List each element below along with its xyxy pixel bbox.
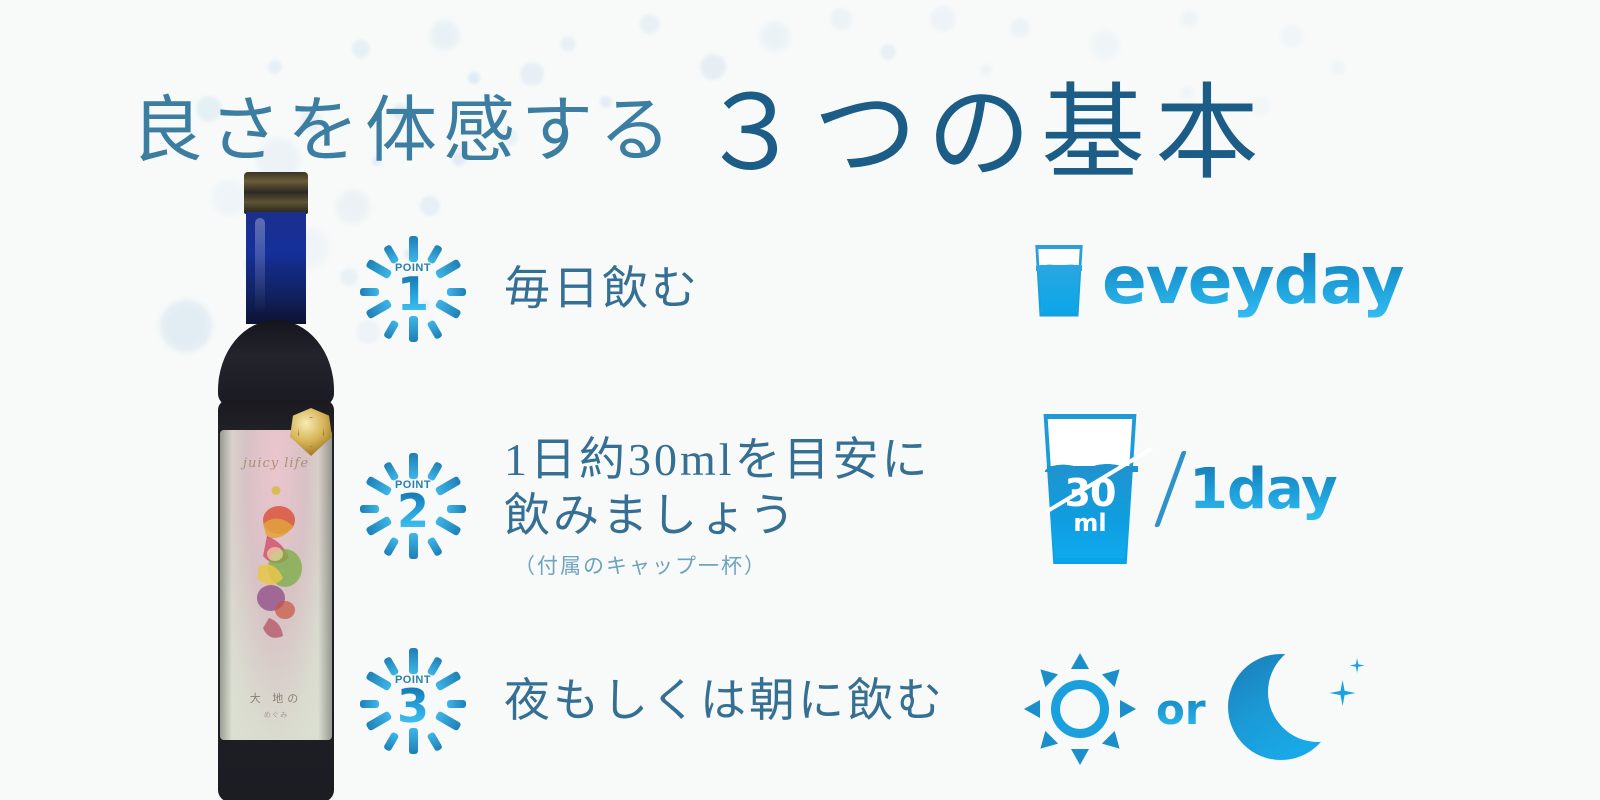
bottle-cap <box>244 172 308 214</box>
bottle-label-dot <box>272 486 281 495</box>
point-line-3-0: 夜もしくは朝に飲む <box>504 673 945 729</box>
badge-ray <box>383 319 399 339</box>
icon-cluster-dose: 30 ml 1day <box>1036 414 1337 564</box>
icon-cluster-time: or <box>1024 650 1346 768</box>
bottle-shoulder <box>218 320 334 408</box>
decorative-bubble <box>1010 18 1030 38</box>
measuring-glass-icon: 30 ml <box>1036 414 1144 564</box>
point-note-2: （付属のキャップ一杯） <box>514 550 931 580</box>
badge-ray <box>447 288 466 296</box>
sun-ray <box>1071 653 1089 669</box>
decorative-bubble <box>420 196 440 216</box>
decorative-bubble <box>160 300 212 352</box>
sun-ray <box>1120 700 1136 718</box>
bottle-label: juicy life 大 地の めぐみ <box>220 430 332 740</box>
decorative-bubble <box>1180 10 1198 28</box>
badge-ray <box>360 288 379 296</box>
point-copy-2: 1日約30mlを目安に 飲みましょう （付属のキャップ一杯） <box>504 432 931 580</box>
badge-ray <box>426 731 442 751</box>
point-line-1-0: 毎日飲む <box>504 261 700 317</box>
point-badge-core-3: POINT 3 <box>380 668 446 734</box>
icon-cluster-everyday: eveyday <box>1032 242 1403 319</box>
headline-lead: 良さを体感する <box>131 91 677 171</box>
sun-ray <box>1034 663 1058 687</box>
water-glass-icon <box>1032 245 1086 317</box>
badge-ray <box>383 537 399 557</box>
point-badge-number-3: 3 <box>397 685 429 727</box>
decorative-bubble <box>1280 24 1304 48</box>
bottle-label-illustration <box>239 502 313 652</box>
decorative-bubble <box>930 6 956 32</box>
badge-ray <box>447 505 466 513</box>
oneday-word: 1day <box>1189 457 1337 522</box>
point-line-2-0: 1日約30mlを目安に <box>504 432 931 488</box>
or-word: or <box>1156 685 1206 734</box>
point-badge-number-2: 2 <box>397 490 429 532</box>
bottle-label-jp-small: めぐみ <box>220 710 332 720</box>
badge-ray <box>447 700 466 708</box>
bottle-neck <box>246 212 306 324</box>
sun-ray <box>1034 731 1058 755</box>
bottle-label-jp: 大 地の <box>220 690 332 706</box>
sun-ray <box>1071 749 1089 765</box>
decorative-bubble <box>340 268 358 286</box>
sun-ray <box>1102 731 1126 755</box>
badge-ray <box>383 731 399 751</box>
point-row-2: POINT 2 1日約30mlを目安に 飲みましょう （付属のキャップ一杯） <box>360 432 931 580</box>
everyday-word: eveyday <box>1102 242 1403 319</box>
infographic-canvas: 良さを体感する３つの基本 juicy life 大 地の めぐみ <box>0 0 1600 800</box>
badge-ray <box>426 537 442 557</box>
point-badge-1: POINT 1 <box>360 236 466 342</box>
sun-ray <box>1024 700 1040 718</box>
product-bottle-image: juicy life 大 地の めぐみ <box>212 172 340 800</box>
point-badge-3: POINT 3 <box>360 648 466 754</box>
decorative-bubble <box>640 14 660 34</box>
headline-emphasis: ３つの基本 <box>699 77 1269 192</box>
point-badge-core-2: POINT 2 <box>380 473 446 539</box>
point-line-2-1: 飲みましょう <box>504 488 931 544</box>
point-row-1: POINT 1 毎日飲む <box>360 236 700 342</box>
decorative-bubble <box>830 8 852 30</box>
glass-unit: ml <box>1036 512 1144 535</box>
point-copy-3: 夜もしくは朝に飲む <box>504 673 945 729</box>
badge-ray <box>360 700 379 708</box>
slash-divider-icon <box>1154 451 1187 527</box>
point-copy-1: 毎日飲む <box>504 261 700 317</box>
moon-icon <box>1226 650 1346 768</box>
decorative-bubble <box>430 20 460 50</box>
sun-ray <box>1102 663 1126 687</box>
point-badge-number-1: 1 <box>397 273 429 315</box>
point-row-3: POINT 3 夜もしくは朝に飲む <box>360 648 945 754</box>
badge-ray <box>360 505 379 513</box>
point-badge-core-1: POINT 1 <box>380 256 446 322</box>
sun-icon <box>1024 653 1136 765</box>
badge-ray <box>426 319 442 339</box>
bottle-label-script: juicy life <box>220 456 332 471</box>
page-title: 良さを体感する３つの基本 <box>0 48 1400 199</box>
point-badge-2: POINT 2 <box>360 453 466 559</box>
